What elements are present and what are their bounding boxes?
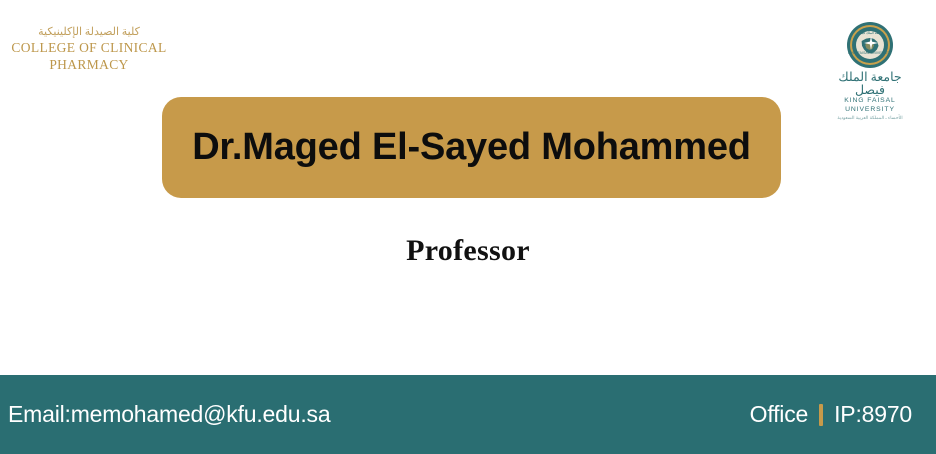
university-name-arabic: جامعة الملك فيصل [822, 71, 918, 97]
college-name-english-line2: PHARMACY [6, 57, 172, 73]
university-seal-icon: جامعة الملك فيصل KING FAISAL UNIVERSITY [847, 22, 893, 68]
college-name-arabic: كلية الصيدلة الإكلينيكية [6, 26, 172, 39]
office-ip-extension: IP:8970 [834, 401, 912, 428]
seal-arc-bottom-text: KING FAISAL UNIVERSITY [847, 51, 893, 60]
academic-title-text: Professor [406, 234, 530, 267]
university-logo: جامعة الملك فيصل KING FAISAL UNIVERSITY … [822, 22, 918, 121]
office-separator [819, 404, 823, 426]
university-name-english: KING FAISAL UNIVERSITY [822, 97, 918, 115]
email-text[interactable]: Email:memohamed@kfu.edu.sa [0, 401, 330, 428]
person-name: Dr.Maged El-Sayed Mohammed [192, 126, 751, 169]
name-banner: Dr.Maged El-Sayed Mohammed [162, 97, 781, 198]
office-info: Office IP:8970 [750, 401, 936, 428]
seal-arc-top-text: جامعة الملك فيصل [847, 31, 893, 40]
footer-contact-bar: Email:memohamed@kfu.edu.sa Office IP:897… [0, 375, 936, 454]
college-header: كلية الصيدلة الإكلينيكية COLLEGE OF CLIN… [6, 26, 172, 73]
academic-title: Professor [0, 234, 936, 268]
university-tagline: الأحساء ـ المملكة العربية السعودية [822, 115, 918, 121]
slide-canvas: كلية الصيدلة الإكلينيكية COLLEGE OF CLIN… [0, 0, 936, 454]
office-label: Office [750, 401, 808, 428]
college-name-english-line1: COLLEGE OF CLINICAL [6, 40, 172, 56]
